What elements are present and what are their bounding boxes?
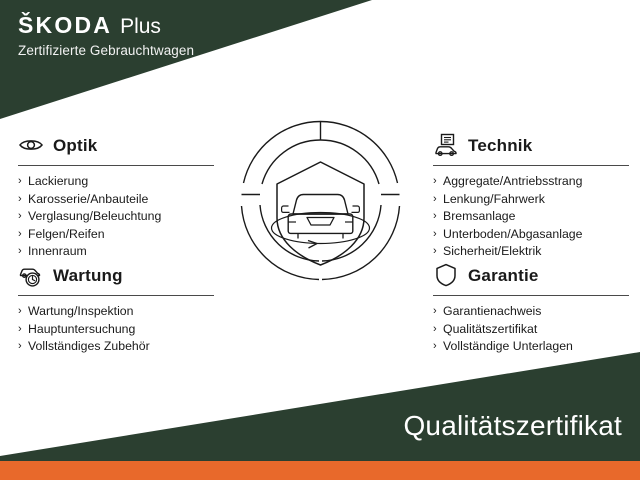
list-item: ›Karosserie/Anbauteile: [18, 191, 214, 209]
section-wartung-title: Wartung: [53, 267, 123, 284]
shield-icon: [433, 262, 459, 288]
chevron-right-icon: ›: [18, 208, 22, 226]
list-item-label: Wartung/Inspektion: [28, 304, 134, 318]
chevron-right-icon: ›: [433, 191, 437, 209]
section-optik-divider: [18, 165, 214, 166]
car-document-icon: [433, 132, 459, 158]
list-item-label: Bremsanlage: [443, 209, 515, 223]
brand-wordmark: ŠKODA: [18, 14, 112, 37]
chevron-right-icon: ›: [433, 208, 437, 226]
list-item: ›Qualitätszertifikat: [433, 321, 629, 339]
section-optik-list: ›Lackierung ›Karosserie/Anbauteile ›Verg…: [18, 173, 214, 261]
section-garantie-divider: [433, 295, 629, 296]
list-item-label: Qualitätszertifikat: [443, 322, 537, 336]
chevron-right-icon: ›: [433, 303, 437, 321]
brand-logo-top: ŠKODA Plus: [18, 14, 194, 37]
shield-car-circle-icon: [238, 118, 403, 283]
list-item: ›Unterboden/Abgasanlage: [433, 226, 629, 244]
list-item: ›Wartung/Inspektion: [18, 303, 214, 321]
chevron-right-icon: ›: [433, 338, 437, 356]
list-item-label: Karosserie/Anbauteile: [28, 192, 148, 206]
section-garantie-list: ›Garantienachweis ›Qualitätszertifikat ›…: [433, 303, 629, 356]
footer-green-wedge: [0, 340, 640, 462]
section-technik: Technik ›Aggregate/Antriebsstrang ›Lenku…: [433, 130, 629, 261]
quality-certificate-page: ŠKODA Plus Zertifizierte Gebrauchtwagen …: [0, 0, 640, 480]
list-item-label: Verglasung/Beleuchtung: [28, 209, 161, 223]
footer-title: Qualitätszertifikat: [403, 412, 622, 440]
list-item: ›Sicherheit/Elektrik: [433, 243, 629, 261]
list-item-label: Aggregate/Antriebsstrang: [443, 174, 582, 188]
list-item: ›Aggregate/Antriebsstrang: [433, 173, 629, 191]
car-clock-icon: [18, 262, 44, 288]
list-item-label: Lackierung: [28, 174, 88, 188]
section-optik-header: Optik: [18, 130, 214, 160]
list-item-label: Innenraum: [28, 244, 87, 258]
section-technik-divider: [433, 165, 629, 166]
footer-orange-bar: [0, 461, 640, 480]
list-item: ›Felgen/Reifen: [18, 226, 214, 244]
chevron-right-icon: ›: [433, 173, 437, 191]
list-item: ›Vollständiges Zubehör: [18, 338, 214, 356]
section-wartung-list: ›Wartung/Inspektion ›Hauptuntersuchung ›…: [18, 303, 214, 356]
section-optik: Optik ›Lackierung ›Karosserie/Anbauteile…: [18, 130, 214, 261]
list-item: ›Vollständige Unterlagen: [433, 338, 629, 356]
list-item: ›Hauptuntersuchung: [18, 321, 214, 339]
list-item-label: Sicherheit/Elektrik: [443, 244, 541, 258]
chevron-right-icon: ›: [18, 338, 22, 356]
list-item: ›Innenraum: [18, 243, 214, 261]
brand-plus-label: Plus: [120, 16, 161, 37]
chevron-right-icon: ›: [433, 243, 437, 261]
section-wartung: Wartung ›Wartung/Inspektion ›Hauptunters…: [18, 260, 214, 356]
chevron-right-icon: ›: [433, 226, 437, 244]
brand-subtitle: Zertifizierte Gebrauchtwagen: [18, 44, 194, 58]
list-item-label: Felgen/Reifen: [28, 227, 105, 241]
chevron-right-icon: ›: [433, 321, 437, 339]
brand-logo: ŠKODA Plus Zertifizierte Gebrauchtwagen: [18, 14, 194, 58]
chevron-right-icon: ›: [18, 243, 22, 261]
list-item: ›Verglasung/Beleuchtung: [18, 208, 214, 226]
list-item: ›Lackierung: [18, 173, 214, 191]
section-technik-title: Technik: [468, 137, 532, 154]
section-wartung-header: Wartung: [18, 260, 214, 290]
section-garantie: Garantie ›Garantienachweis ›Qualitätszer…: [433, 260, 629, 356]
eye-icon: [18, 132, 44, 158]
chevron-right-icon: ›: [18, 191, 22, 209]
section-garantie-header: Garantie: [433, 260, 629, 290]
list-item-label: Garantienachweis: [443, 304, 541, 318]
chevron-right-icon: ›: [18, 321, 22, 339]
list-item: ›Bremsanlage: [433, 208, 629, 226]
list-item-label: Unterboden/Abgasanlage: [443, 227, 582, 241]
section-technik-header: Technik: [433, 130, 629, 160]
list-item-label: Lenkung/Fahrwerk: [443, 192, 545, 206]
chevron-right-icon: ›: [18, 226, 22, 244]
list-item: ›Garantienachweis: [433, 303, 629, 321]
section-garantie-title: Garantie: [468, 267, 539, 284]
section-wartung-divider: [18, 295, 214, 296]
list-item: ›Lenkung/Fahrwerk: [433, 191, 629, 209]
section-technik-list: ›Aggregate/Antriebsstrang ›Lenkung/Fahrw…: [433, 173, 629, 261]
list-item-label: Vollständiges Zubehör: [28, 339, 150, 353]
list-item-label: Hauptuntersuchung: [28, 322, 135, 336]
section-optik-title: Optik: [53, 137, 97, 154]
chevron-right-icon: ›: [18, 173, 22, 191]
chevron-right-icon: ›: [18, 303, 22, 321]
list-item-label: Vollständige Unterlagen: [443, 339, 573, 353]
